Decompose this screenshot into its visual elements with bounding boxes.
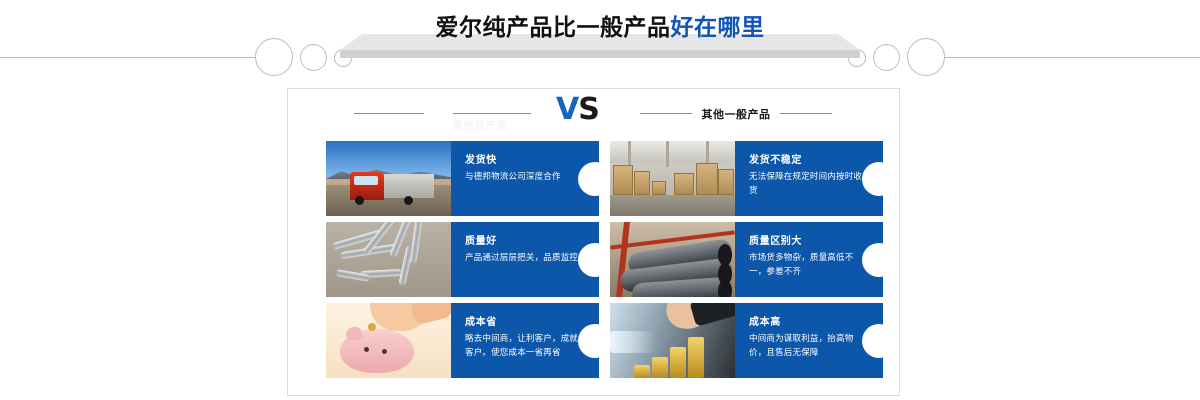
header-rule-right [940,57,1200,58]
card-thumbnail [610,303,735,378]
card-description: 略去中间商，让利客户，成就客户。使您成本一省再省 [465,332,581,360]
card-description: 中间商为谋取利益，抬高物价，且售后无保障 [749,332,865,360]
card-description: 市场货多物杂，质量高低不一，参差不齐 [749,251,865,279]
card-thumbnail [610,222,735,297]
card-title: 成本高 [749,313,781,328]
card-text-panel: 质量区别大 市场货多物杂，质量高低不一，参差不齐 [735,222,883,297]
card-text-panel: 发货不稳定 无法保障在规定时间内按时收货 [735,141,883,216]
right-product-column: 发货不稳定 无法保障在规定时间内按时收货 质量区别大 市场货多物杂，质量高低不一… [610,141,883,384]
disadvantage-card[interactable]: 发货不稳定 无法保障在规定时间内按时收货 [610,141,883,216]
card-notch-circle [578,162,599,196]
page-title-accent: 好在哪里 [671,15,765,41]
page-title: 爱尔纯产品比一般产品好在哪里 [0,8,1200,42]
card-thumbnail [610,141,735,216]
card-description: 产品通过层层把关，品质监控 [465,251,581,265]
vs-letter-v: V [556,92,578,127]
stacked-grey-pipes-icon [610,222,735,297]
comparison-frame: 爱尔纯产品 VS 其他一般产品 发货快 与德邦物流公司深度合作 [287,88,900,396]
advantage-card[interactable]: 质量好 产品通过层层把关，品质监控 [326,222,599,297]
card-title: 质量区别大 [749,232,802,247]
card-title: 质量好 [465,232,497,247]
decorative-circle-icon [255,38,293,76]
header-rule-left [0,57,260,58]
card-text-panel: 成本省 略去中间商，让利客户，成就客户。使您成本一省再省 [451,303,599,378]
column-label-left: 爱尔纯产品 [410,117,550,132]
hand-stacking-gold-coins-icon [610,303,735,378]
vs-letter-s: S [578,92,599,127]
card-text-panel: 成本高 中间商为谋取利益，抬高物价，且售后无保障 [735,303,883,378]
card-thumbnail [326,303,451,378]
page-title-main: 爱尔纯产品比一般产品 [436,15,671,41]
decorative-circle-icon [907,38,945,76]
slab-front-face [340,50,860,58]
card-description: 与德邦物流公司深度合作 [465,170,581,184]
advantage-card[interactable]: 发货快 与德邦物流公司深度合作 [326,141,599,216]
card-text-panel: 质量好 产品通过层层把关，品质监控 [451,222,599,297]
disadvantage-card[interactable]: 成本高 中间商为谋取利益，抬高物价，且售后无保障 [610,303,883,378]
card-title: 成本省 [465,313,497,328]
card-notch-circle [862,243,883,277]
page-header: 爱尔纯产品比一般产品好在哪里 [0,0,1200,80]
card-notch-circle [862,162,883,196]
comparison-header-bar: 爱尔纯产品 VS 其他一般产品 [288,89,899,141]
card-text-panel: 发货快 与德邦物流公司深度合作 [451,141,599,216]
column-label-right: 其他一般产品 [692,106,780,122]
card-thumbnail [326,141,451,216]
advantage-card[interactable]: 成本省 略去中间商，让利客户，成就客户。使您成本一省再省 [326,303,599,378]
header-divider-line [780,113,832,114]
decorative-circle-icon [873,44,900,71]
left-product-column: 发货快 与德邦物流公司深度合作 质量好 产品通过层层把关，品质监控 [326,141,599,384]
card-description: 无法保障在规定时间内按时收货 [749,170,865,198]
header-divider-line [640,113,692,114]
hand-putting-coin-in-piggy-bank-icon [326,303,451,378]
vs-badge: VS [556,93,599,127]
card-notch-circle [578,243,599,277]
metal-filter-tubes-icon [326,222,451,297]
warehouse-with-cardboard-boxes-icon [610,141,735,216]
card-notch-circle [578,324,599,358]
card-thumbnail [326,222,451,297]
card-title: 发货快 [465,151,497,166]
card-title: 发货不稳定 [749,151,802,166]
disadvantage-card[interactable]: 质量区别大 市场货多物杂，质量高低不一，参差不齐 [610,222,883,297]
header-divider-line [354,113,424,114]
decorative-circle-icon [300,44,327,71]
header-divider-line [453,113,531,114]
card-notch-circle [862,324,883,358]
red-truck-on-highway-icon [326,141,451,216]
